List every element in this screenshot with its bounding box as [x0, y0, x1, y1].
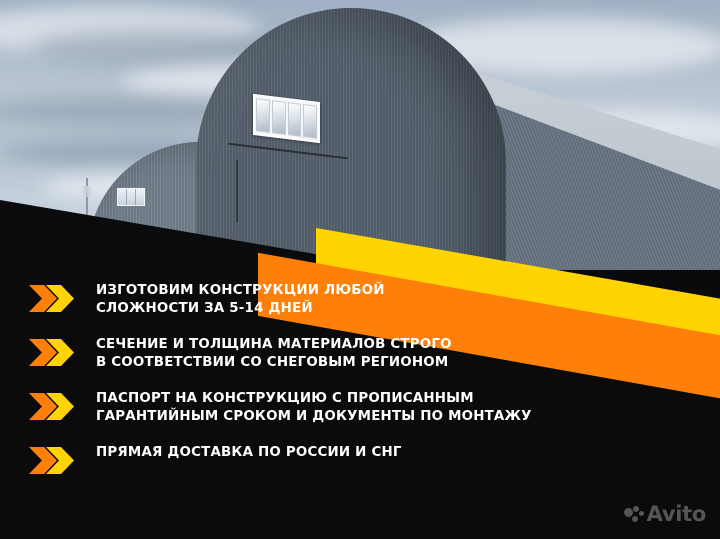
- avito-dots-icon: [624, 506, 644, 523]
- feature-text: ИЗГОТОВИМ КОНСТРУКЦИИ ЛЮБОЙ СЛОЖНОСТИ ЗА…: [96, 282, 385, 317]
- double-chevron-icon: [29, 285, 75, 312]
- facade-seam: [236, 160, 238, 222]
- avito-watermark: Avito: [624, 502, 706, 526]
- feature-item: ИЗГОТОВИМ КОНСТРУКЦИИ ЛЮБОЙ СЛОЖНОСТИ ЗА…: [0, 282, 720, 317]
- feature-text: ПРЯМАЯ ДОСТАВКА ПО РОССИИ И СНГ: [96, 444, 402, 462]
- main-hangar-window-band: [253, 94, 320, 143]
- double-chevron-icon: [29, 447, 75, 474]
- feature-item: СЕЧЕНИЕ И ТОЛЩИНА МАТЕРИАЛОВ СТРОГО В СО…: [0, 336, 720, 371]
- feature-item: ПАСПОРТ НА КОНСТРУКЦИЮ С ПРОПИСАННЫМ ГАР…: [0, 390, 720, 425]
- secondary-hangar-window: [117, 188, 145, 206]
- feature-text: СЕЧЕНИЕ И ТОЛЩИНА МАТЕРИАЛОВ СТРОГО В СО…: [96, 336, 452, 371]
- antenna-head: [83, 186, 91, 197]
- promo-banner: ИЗГОТОВИМ КОНСТРУКЦИИ ЛЮБОЙ СЛОЖНОСТИ ЗА…: [0, 0, 720, 539]
- avito-wordmark: Avito: [647, 502, 706, 526]
- double-chevron-icon: [29, 339, 75, 366]
- feature-list: ИЗГОТОВИМ КОНСТРУКЦИИ ЛЮБОЙ СЛОЖНОСТИ ЗА…: [0, 282, 720, 493]
- double-chevron-icon: [29, 393, 75, 420]
- feature-item: ПРЯМАЯ ДОСТАВКА ПО РОССИИ И СНГ: [0, 444, 720, 474]
- feature-text: ПАСПОРТ НА КОНСТРУКЦИЮ С ПРОПИСАННЫМ ГАР…: [96, 390, 532, 425]
